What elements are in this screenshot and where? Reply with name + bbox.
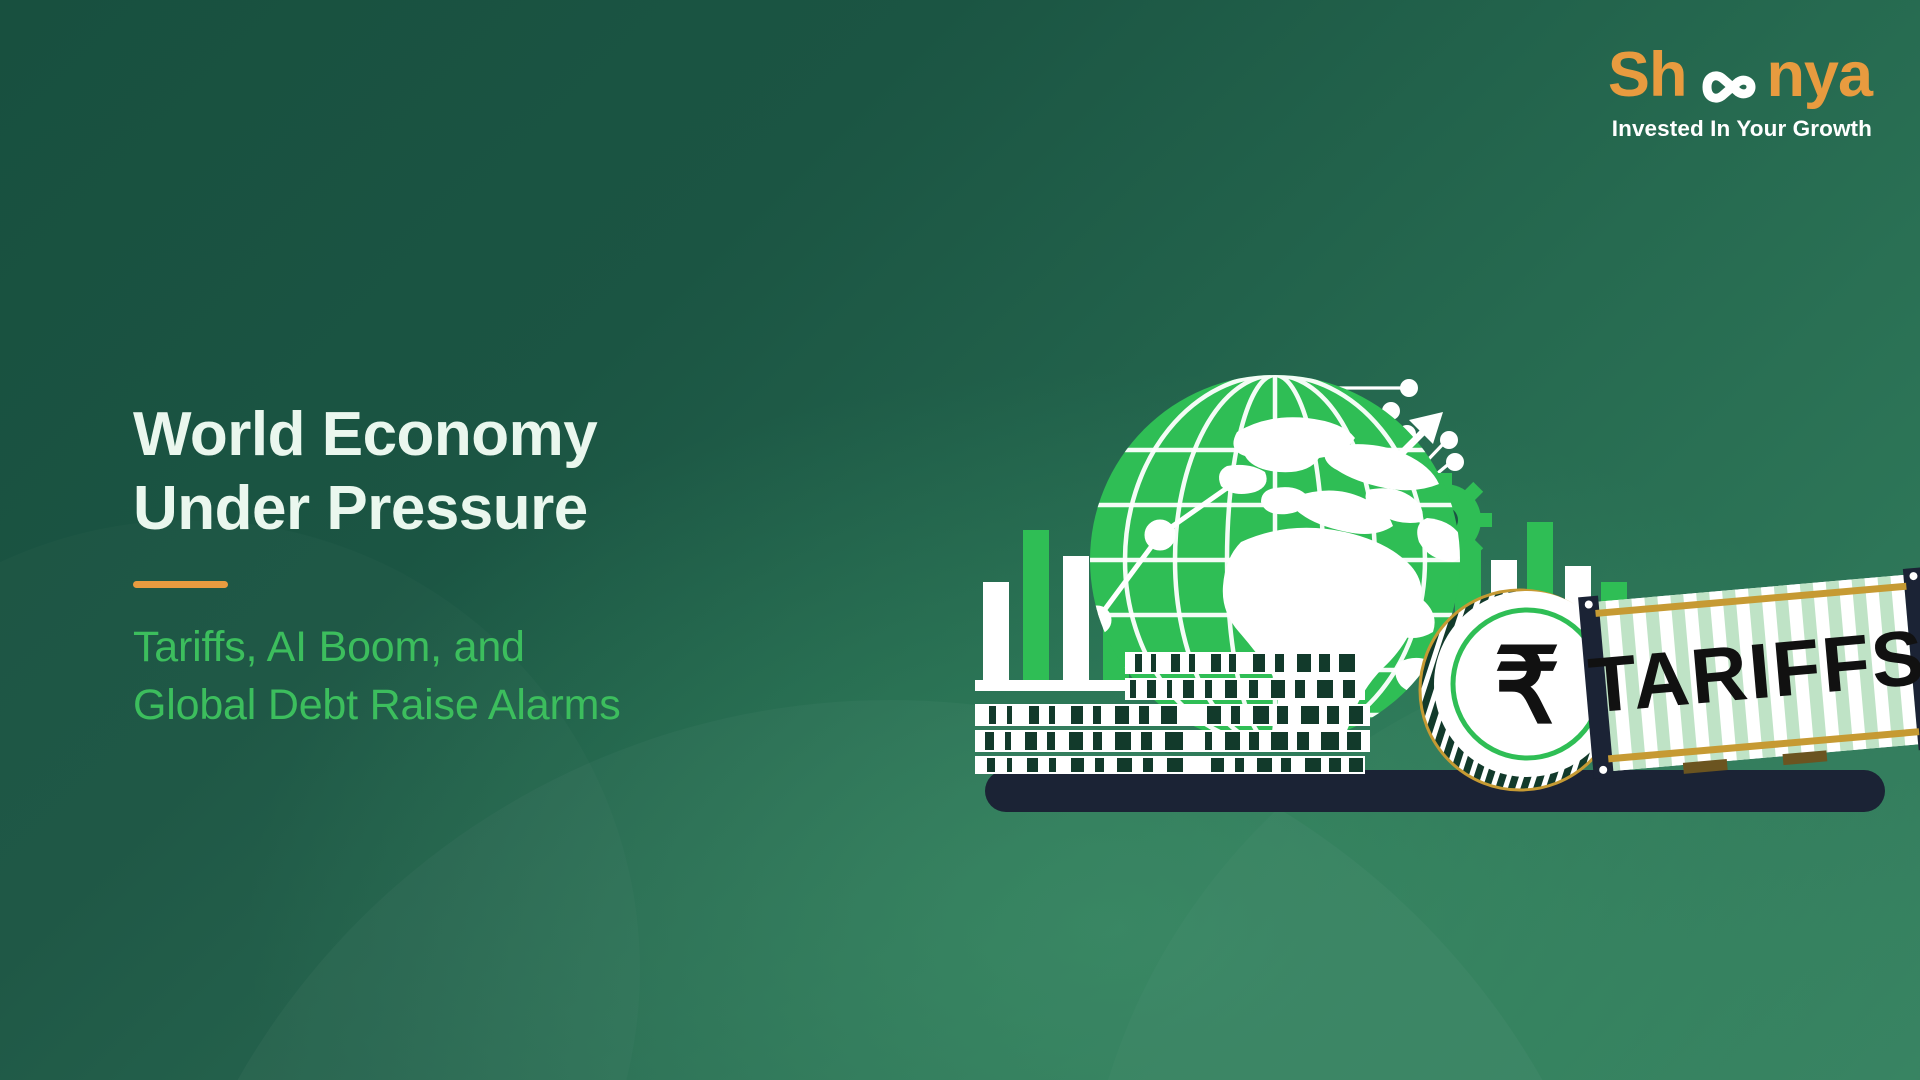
headline-line-2: Under Pressure	[133, 472, 893, 546]
base-platform	[985, 770, 1885, 812]
accent-divider	[133, 581, 228, 588]
rupee-symbol: ₹	[1494, 629, 1560, 745]
headline-line-1: World Economy	[133, 398, 893, 472]
headline-block: World Economy Under Pressure Tariffs, AI…	[133, 398, 893, 735]
hero-illustration: AI	[975, 370, 1905, 850]
logo-word-after: nya	[1766, 44, 1872, 107]
logo-word-before: Sh	[1608, 44, 1687, 107]
logo-wordmark: Sh nya	[1608, 44, 1872, 107]
infinity-symbol-icon	[1687, 57, 1765, 101]
banner-root: Sh nya Invested In Your Growth World Eco…	[0, 0, 1920, 1080]
tariffs-container[interactable]: TARIFFS	[1578, 567, 1920, 781]
subhead-line-1: Tariffs, AI Boom, and	[133, 618, 893, 676]
brand-logo[interactable]: Sh nya Invested In Your Growth	[1608, 44, 1872, 142]
logo-tagline: Invested In Your Growth	[1608, 116, 1872, 142]
subhead-line-2: Global Debt Raise Alarms	[133, 676, 893, 734]
